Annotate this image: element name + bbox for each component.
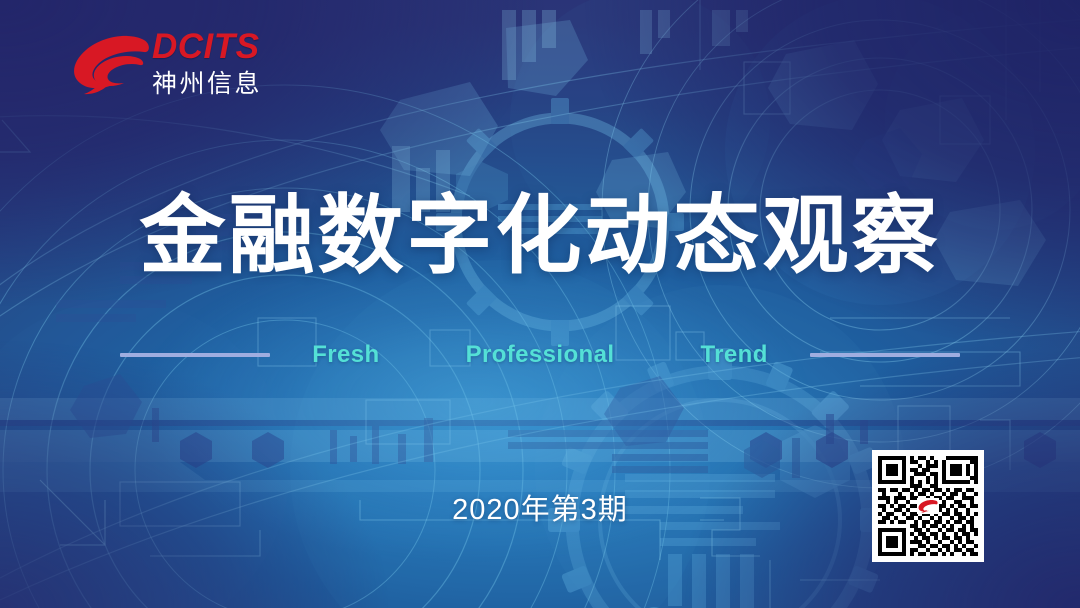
brand-logo: DCITS 神州信息 [72,28,282,110]
tagline-word-trend: Trend [700,341,767,369]
page-title: 金融数字化动态观察 [0,186,1080,286]
logo-chinese-name: 神州信息 [152,68,284,100]
logo-wordmark: DCITS 神州信息 [152,28,284,108]
tagline-rule-right [810,353,960,357]
qr-center-logo [917,498,939,514]
tagline-word-fresh: Fresh [312,341,379,369]
tagline-row: Fresh Professional Trend [0,340,1080,370]
logo-latin-name: DCITS [152,28,284,66]
tagline-words: Fresh Professional Trend [270,341,810,369]
slide-canvas: DCITS 神州信息 金融数字化动态观察 Fresh Professional … [0,0,1080,608]
dcits-swoosh-icon-small [917,498,939,514]
tagline-word-professional: Professional [466,341,615,369]
tagline-rule-left [120,353,270,357]
dcits-swoosh-icon [72,34,152,100]
qr-code[interactable] [872,450,984,562]
